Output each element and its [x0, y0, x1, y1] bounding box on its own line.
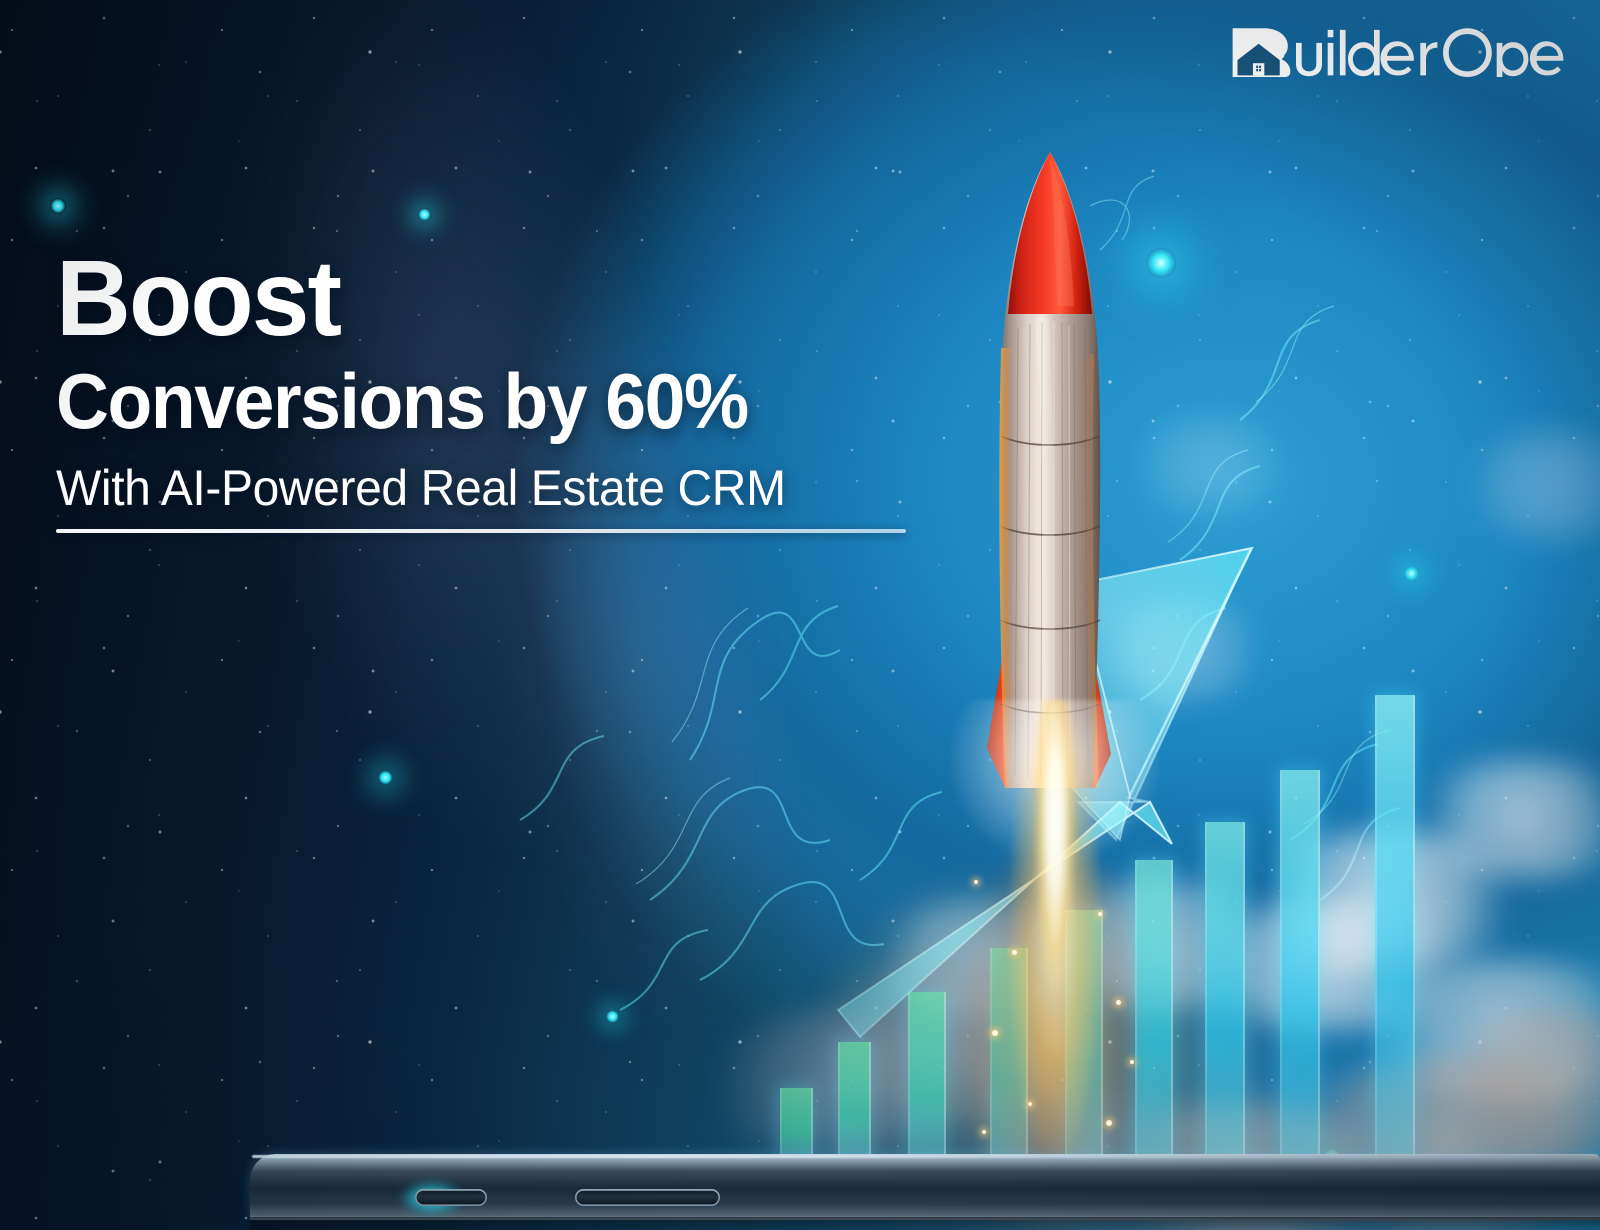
chart-bar — [838, 1042, 871, 1160]
glow-dot — [1322, 1148, 1342, 1168]
glow-dot — [1404, 566, 1419, 581]
cloud-layer — [0, 0, 1600, 1230]
glow-dot — [50, 198, 66, 214]
headline-underline — [56, 529, 906, 533]
glow-dot — [378, 770, 393, 785]
rocket-icon — [975, 148, 1125, 788]
chart-bar — [1135, 860, 1173, 1160]
logo-wordmark-part3 — [1496, 41, 1563, 77]
starfield-layer-1 — [0, 0, 1600, 1230]
laptop-port — [415, 1189, 487, 1206]
growth-arrow-icon — [820, 540, 1290, 1040]
starfield-layer-2 — [17, 31, 1600, 1230]
glow-dot — [1146, 248, 1176, 278]
headline-block: Boost Conversions by 60% With AI-Powered… — [56, 248, 956, 533]
brand-logo[interactable]: BuilderOpedia — [1231, 22, 1572, 80]
chart-bar — [780, 1088, 813, 1160]
chart-bar — [1375, 695, 1415, 1160]
bar-chart — [0, 0, 1600, 1230]
logo-wordmark-letter-o — [1443, 28, 1492, 77]
headline-line-1: Boost — [56, 248, 920, 347]
headline-line-2: Conversions by 60% — [56, 363, 902, 439]
house-in-b-icon — [1232, 28, 1290, 77]
milky-way-dust — [0, 0, 1006, 1191]
laptop-port — [575, 1189, 720, 1206]
chart-bar — [1065, 910, 1103, 1160]
starfield-layer-3 — [0, 12, 1560, 1230]
laptop-edge — [250, 1132, 1600, 1230]
glow-dot — [418, 208, 431, 221]
logo-wordmark-part1 — [1296, 30, 1437, 76]
vignette — [0, 0, 1600, 1230]
rocket-exhaust — [930, 700, 1180, 1230]
chart-bar — [908, 992, 946, 1160]
chart-bar — [990, 948, 1028, 1160]
chart-bar — [1205, 822, 1245, 1160]
chart-bar — [1280, 770, 1320, 1160]
glow-dot — [606, 1010, 619, 1023]
promo-banner: BuilderOpedia Boost Conversions by 60% W… — [0, 0, 1600, 1230]
energy-filaments — [0, 0, 1600, 1230]
headline-line-3: With AI-Powered Real Estate CRM — [56, 462, 920, 514]
